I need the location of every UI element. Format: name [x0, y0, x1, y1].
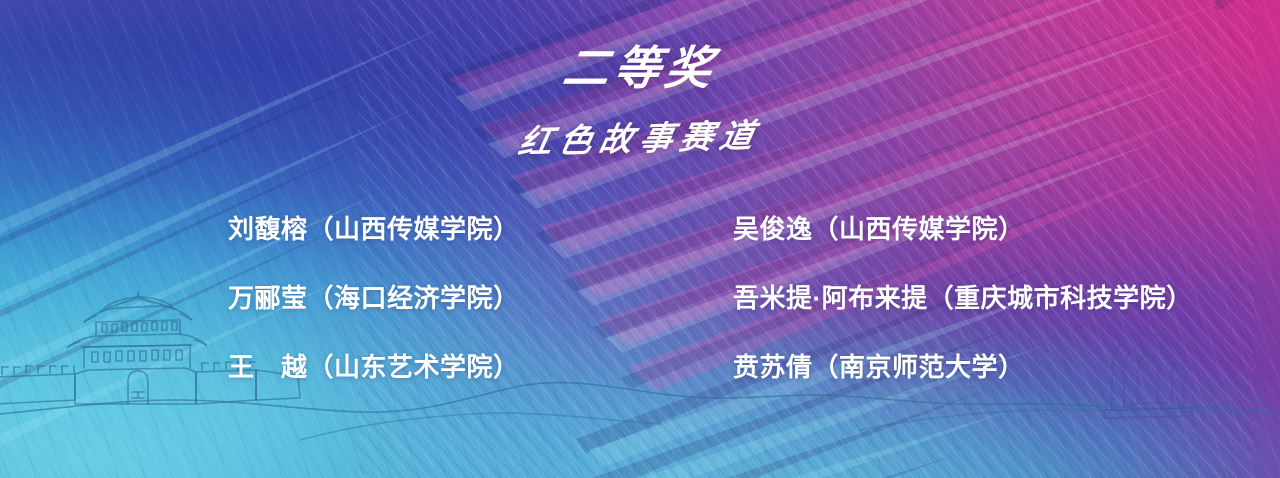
banner-content: 二等奖 红色故事赛道 刘馥榕（山西传媒学院） 吴俊逸（山西传媒学院） 万郦莹（海… [0, 0, 1280, 478]
winner-row: 万郦莹（海口经济学院） 吾米提·阿布来提（重庆城市科技学院） [0, 275, 1280, 321]
page-title: 二等奖 [0, 45, 1280, 91]
award-banner: 二等奖 红色故事赛道 刘馥榕（山西传媒学院） 吴俊逸（山西传媒学院） 万郦莹（海… [0, 0, 1280, 478]
winner-entry: 王 越（山东艺术学院） [228, 344, 520, 390]
winner-row: 刘馥榕（山西传媒学院） 吴俊逸（山西传媒学院） [0, 206, 1280, 252]
winners-list: 刘馥榕（山西传媒学院） 吴俊逸（山西传媒学院） 万郦莹（海口经济学院） 吾米提·… [0, 206, 1280, 406]
track-subtitle: 红色故事赛道 [0, 104, 1280, 173]
winner-entry: 贲苏倩（南京师范大学） [733, 344, 1025, 390]
winner-entry: 吴俊逸（山西传媒学院） [733, 206, 1025, 252]
winner-row: 王 越（山东艺术学院） 贲苏倩（南京师范大学） [0, 344, 1280, 390]
winner-entry: 吾米提·阿布来提（重庆城市科技学院） [733, 275, 1193, 321]
winner-entry: 万郦莹（海口经济学院） [228, 275, 520, 321]
winner-entry: 刘馥榕（山西传媒学院） [228, 206, 520, 252]
